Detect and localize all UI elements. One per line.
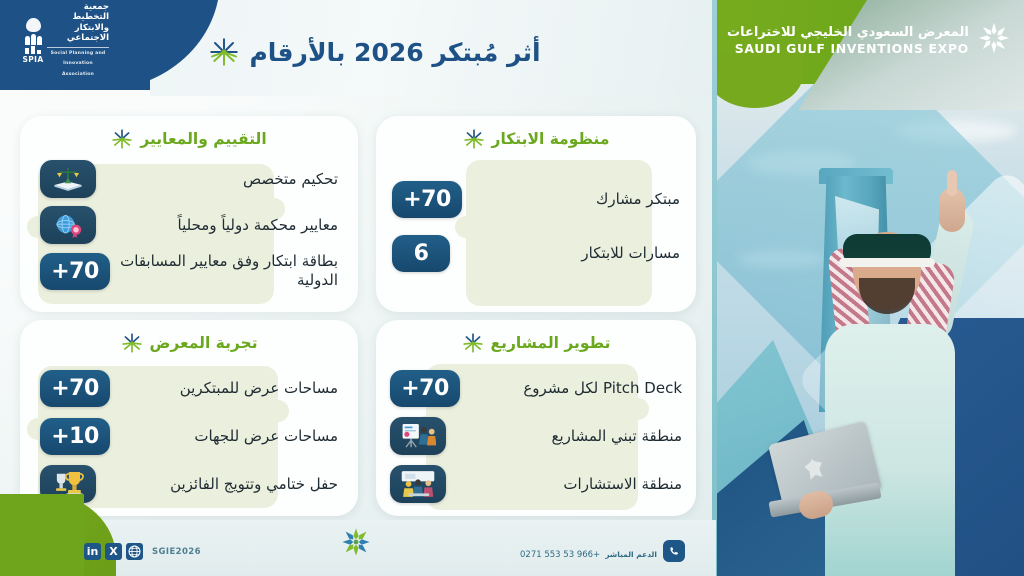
card-b-title-text: منظومة الابتكار bbox=[492, 130, 610, 148]
spia-line-4: الاجتماعي bbox=[47, 33, 109, 44]
row-label: مساحات عرض للجهات bbox=[119, 426, 338, 446]
status-badge: +70 bbox=[392, 181, 462, 218]
spia-emblem-icon: SPIA bbox=[23, 18, 43, 64]
card-a-title: التقييم والمعايير bbox=[20, 128, 358, 150]
card-project-development[interactable]: تطوير المشاريع Pitch Deck لكل مشروع +70 … bbox=[376, 320, 696, 516]
list-item[interactable]: Pitch Deck لكل مشروع +70 bbox=[390, 364, 682, 412]
social-links[interactable]: in X SGIE2026 bbox=[84, 543, 201, 560]
expo-logo: المعرض السعودي الخليجي للاختراعات SAUDI … bbox=[727, 16, 1017, 64]
list-item[interactable]: حفل ختامي وتتويج الفائزين bbox=[40, 460, 338, 508]
expo-logo-english: SAUDI GULF INVENTIONS EXPO bbox=[727, 41, 969, 56]
spia-divider bbox=[47, 47, 109, 48]
expo-logo-text: المعرض السعودي الخليجي للاختراعات SAUDI … bbox=[727, 25, 969, 56]
list-item[interactable]: مسارات للابتكار 6 bbox=[392, 226, 680, 280]
card-innovation-system[interactable]: منظومة الابتكار مبتكر مشارك +70 مسارات ل… bbox=[376, 116, 696, 312]
row-label: بطاقة ابتكار وفق معايير المسابقات الدولي… bbox=[119, 252, 338, 290]
row-label: تحكيم متخصص bbox=[105, 169, 338, 189]
card-b-rows: مبتكر مشارك +70 مسارات للابتكار 6 bbox=[392, 172, 680, 280]
globe-award-icon bbox=[40, 206, 96, 244]
spia-logo: جمعية التخطيط والابتكار الاجتماعي Social… bbox=[24, 10, 108, 72]
whatsapp-icon[interactable] bbox=[663, 540, 685, 562]
support-phone: +966 53 553 0271 bbox=[520, 550, 600, 560]
list-item[interactable]: منطقة تبني المشاريع bbox=[390, 412, 682, 460]
card-b-title: منظومة الابتكار bbox=[376, 128, 696, 150]
vr-headset-strap bbox=[839, 258, 935, 267]
card-c-rows: مساحات عرض للمبتكرين +70 مساحات عرض للجه… bbox=[40, 364, 338, 508]
starburst-icon bbox=[463, 128, 485, 150]
row-label: منطقة الاستشارات bbox=[455, 474, 682, 494]
card-a-title-text: التقييم والمعايير bbox=[140, 130, 266, 148]
support-text: الدعم المباشر +966 53 553 0271 bbox=[520, 542, 657, 561]
starburst-icon bbox=[111, 128, 133, 150]
footer: in X SGIE2026 bbox=[0, 520, 716, 576]
list-item[interactable]: مساحات عرض للمبتكرين +70 bbox=[40, 364, 338, 412]
list-item[interactable]: منطقة الاستشارات bbox=[390, 460, 682, 508]
consulting-meeting-icon bbox=[390, 465, 446, 503]
row-label: Pitch Deck لكل مشروع bbox=[469, 378, 682, 398]
card-c-title-text: تجربة المعرض bbox=[150, 334, 258, 352]
x-twitter-icon[interactable]: X bbox=[105, 543, 122, 560]
footer-starburst-icon bbox=[340, 526, 372, 562]
card-d-title-text: تطوير المشاريع bbox=[491, 334, 611, 352]
status-badge: 6 bbox=[392, 235, 450, 272]
row-label: منطقة تبني المشاريع bbox=[455, 426, 682, 446]
list-item[interactable]: مبتكر مشارك +70 bbox=[392, 172, 680, 226]
list-item[interactable]: بطاقة ابتكار وفق معايير المسابقات الدولي… bbox=[40, 248, 338, 294]
hero-photo-banner: المعرض السعودي الخليجي للاختراعات SAUDI … bbox=[717, 0, 1024, 576]
starburst-icon bbox=[121, 332, 143, 354]
bar-chart-icon bbox=[25, 46, 41, 55]
spia-line-3: والابتكار bbox=[47, 23, 109, 34]
spia-abbr: SPIA bbox=[22, 55, 43, 64]
list-item[interactable]: معايير محكمة دولياً ومحلياً bbox=[40, 202, 338, 248]
card-a-rows: تحكيم متخصص معايير محكمة دولياً وم bbox=[40, 156, 338, 294]
expo-logo-arabic: المعرض السعودي الخليجي للاختراعات bbox=[727, 25, 969, 40]
status-badge: +70 bbox=[390, 370, 460, 407]
people-icon bbox=[25, 33, 41, 44]
support-label: الدعم المباشر bbox=[605, 550, 657, 559]
card-evaluation-criteria[interactable]: التقييم والمعايير تحكيم متخصص bbox=[20, 116, 358, 312]
linkedin-icon[interactable]: in bbox=[84, 543, 101, 560]
expo-starburst-icon bbox=[977, 21, 1011, 59]
shield-icon bbox=[26, 18, 41, 32]
card-d-rows: Pitch Deck لكل مشروع +70 منطقة تبني المش… bbox=[390, 364, 682, 508]
page-title-text: أثر مُبتكر 2026 بالأرقام bbox=[249, 38, 540, 67]
row-label: مساحات عرض للمبتكرين bbox=[119, 378, 338, 398]
row-label: مسارات للابتكار bbox=[459, 243, 680, 263]
card-expo-experience[interactable]: تجربة المعرض مساحات عرض للمبتكرين +70 مس… bbox=[20, 320, 358, 516]
row-label: مبتكر مشارك bbox=[471, 189, 680, 209]
website-globe-icon[interactable] bbox=[126, 543, 143, 560]
spia-line-2: التخطيط bbox=[47, 12, 109, 23]
status-badge: +10 bbox=[40, 418, 110, 455]
card-c-title: تجربة المعرض bbox=[20, 332, 358, 354]
footer-green-shape-fill bbox=[0, 494, 84, 576]
scales-on-book-icon bbox=[40, 160, 96, 198]
social-handle: SGIE2026 bbox=[152, 547, 201, 557]
starburst-icon bbox=[462, 332, 484, 354]
spia-line-1: جمعية bbox=[47, 2, 109, 13]
pointing-finger bbox=[947, 170, 957, 196]
presentation-board-icon bbox=[390, 417, 446, 455]
man-wearing-vr-headset-with-laptop bbox=[779, 196, 1024, 576]
support-contact[interactable]: الدعم المباشر +966 53 553 0271 bbox=[520, 540, 685, 562]
infographic-canvas: جمعية التخطيط والابتكار الاجتماعي Social… bbox=[0, 0, 1024, 576]
list-item[interactable]: مساحات عرض للجهات +10 bbox=[40, 412, 338, 460]
card-d-title: تطوير المشاريع bbox=[376, 332, 696, 354]
row-label: معايير محكمة دولياً ومحلياً bbox=[105, 215, 338, 235]
list-item[interactable]: تحكيم متخصص bbox=[40, 156, 338, 202]
status-badge: +70 bbox=[40, 253, 110, 290]
spia-subtitle: Social Planning and Innovation Associati… bbox=[47, 49, 109, 81]
page-title: أثر مُبتكر 2026 بالأرقام bbox=[180, 24, 570, 80]
panel-seam bbox=[712, 0, 717, 576]
spia-logo-text: جمعية التخطيط والابتكار الاجتماعي Social… bbox=[47, 2, 109, 81]
status-badge: +70 bbox=[40, 370, 110, 407]
starburst-icon bbox=[209, 37, 239, 67]
row-label: حفل ختامي وتتويج الفائزين bbox=[105, 474, 338, 494]
